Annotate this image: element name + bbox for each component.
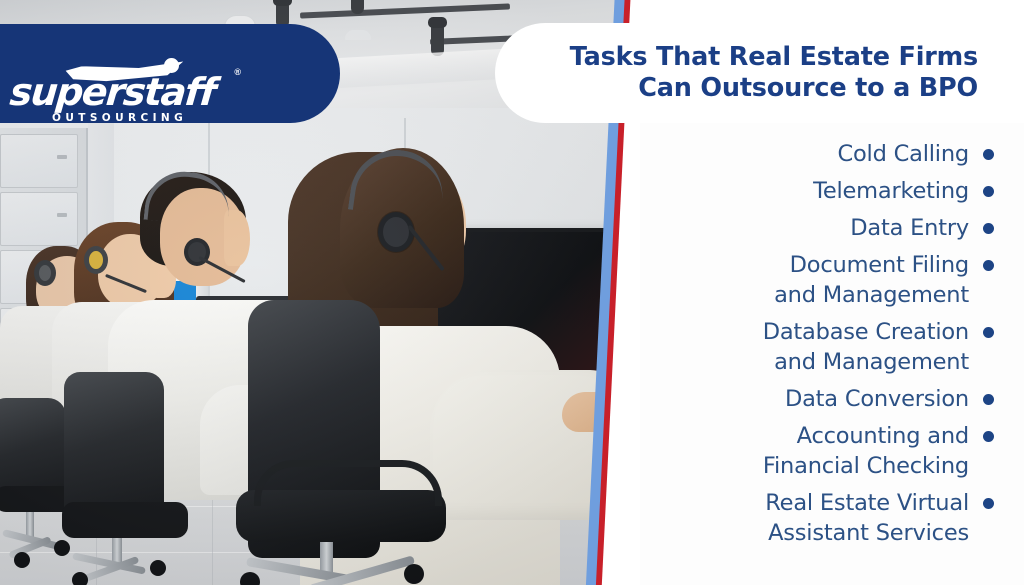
bullet-icon <box>983 431 994 442</box>
list-item-label: Real Estate Virtual Assistant Services <box>765 488 969 548</box>
title-line-2: Can Outsource to a BPO <box>570 73 978 104</box>
list-item-label: Telemarketing <box>813 176 969 206</box>
office-chair-armrest <box>254 460 442 506</box>
list-item-label: Database Creation and Management <box>763 317 969 377</box>
title-banner: Tasks That Real Estate Firms Can Outsour… <box>495 23 1024 123</box>
locker-door <box>0 134 78 188</box>
headset-icon <box>84 246 108 274</box>
list-item: Cold Calling <box>640 139 994 169</box>
superstaff-logo: superstaff ® OUTSOURCING <box>10 70 232 128</box>
list-item-label: Data Conversion <box>785 384 969 414</box>
bullet-icon <box>983 394 994 405</box>
list-item-label: Cold Calling <box>837 139 969 169</box>
office-chair-back <box>64 372 164 522</box>
chair-post <box>320 542 333 572</box>
registered-trademark-icon: ® <box>234 67 241 77</box>
bullet-icon <box>983 149 994 160</box>
spotlight-icon <box>431 24 444 56</box>
headset-icon <box>34 260 56 286</box>
task-list: Cold Calling Telemarketing Data Entry Do… <box>640 123 1024 585</box>
list-item: Accounting and Financial Checking <box>640 421 994 481</box>
list-item: Real Estate Virtual Assistant Services <box>640 488 994 548</box>
list-item-label: Accounting and Financial Checking <box>763 421 969 481</box>
bullet-icon <box>983 327 994 338</box>
bullet-icon <box>983 260 994 271</box>
list-item: Telemarketing <box>640 176 994 206</box>
list-item: Database Creation and Management <box>640 317 994 377</box>
logo-tagline: OUTSOURCING <box>52 112 187 124</box>
logo-wordmark: superstaff <box>8 72 216 112</box>
list-item-label: Document Filing and Management <box>774 250 969 310</box>
light-rail <box>300 3 510 18</box>
bullet-icon <box>983 186 994 197</box>
spotlight-icon <box>351 0 364 14</box>
locker-door <box>0 192 78 246</box>
title-line-1: Tasks That Real Estate Firms <box>570 42 978 73</box>
infographic-canvas: superstaff M Ta <box>0 0 1024 585</box>
list-item: Document Filing and Management <box>640 250 994 310</box>
logo-badge: superstaff ® OUTSOURCING <box>0 24 340 123</box>
headset-icon: M <box>378 212 414 252</box>
ceiling-lamp <box>345 30 371 40</box>
page-title: Tasks That Real Estate Firms Can Outsour… <box>570 42 1024 104</box>
bullet-icon <box>983 498 994 509</box>
bullet-icon <box>983 223 994 234</box>
office-chair-seat <box>62 502 188 538</box>
list-item-label: Data Entry <box>850 213 969 243</box>
list-item: Data Entry <box>640 213 994 243</box>
list-item: Data Conversion <box>640 384 994 414</box>
